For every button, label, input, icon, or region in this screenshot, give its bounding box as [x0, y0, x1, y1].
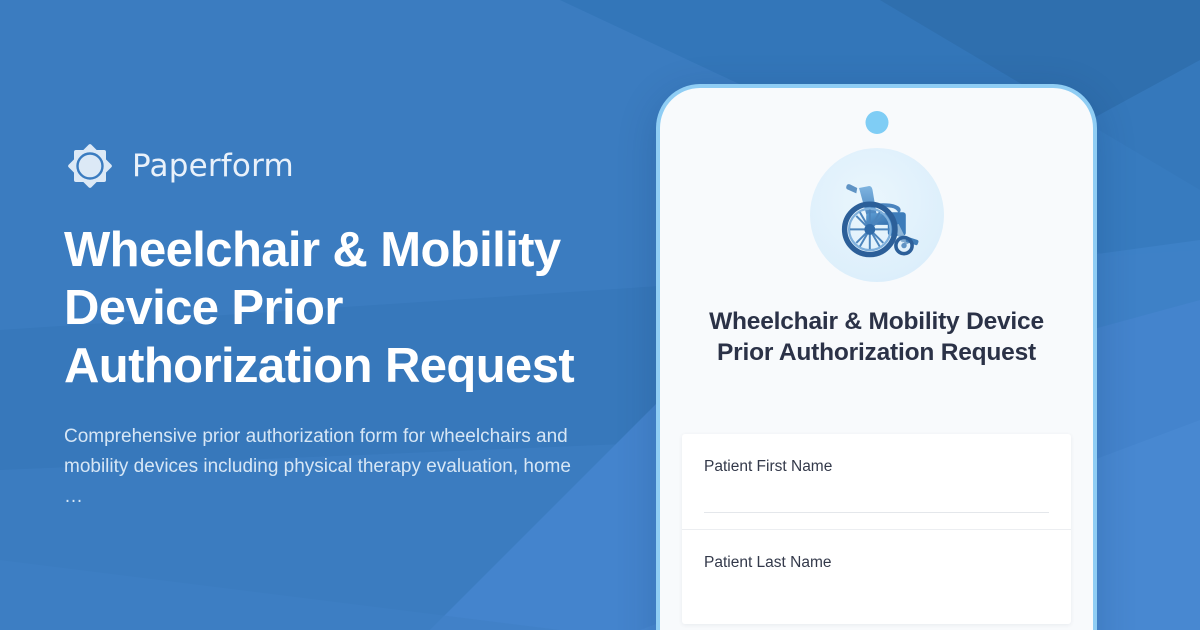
page-description: Comprehensive prior authorization form f…: [64, 422, 584, 512]
paperform-star-logo-icon: [64, 140, 116, 192]
wheelchair-icon: [810, 148, 944, 282]
camera-dot-icon: [865, 111, 888, 134]
field-label: Patient First Name: [704, 458, 1049, 476]
form-field-patient-last-name[interactable]: Patient Last Name: [682, 530, 1071, 624]
form-card: Patient First Name Patient Last Name: [682, 434, 1071, 624]
brand-lockup: Paperform: [64, 140, 624, 192]
text-input[interactable]: [704, 512, 1049, 513]
page-title: Wheelchair & Mobility Device Prior Autho…: [64, 222, 609, 395]
brand-name: Paperform: [132, 148, 294, 184]
form-field-patient-first-name[interactable]: Patient First Name: [682, 434, 1071, 530]
field-label: Patient Last Name: [704, 554, 1049, 572]
hero-content: Paperform Wheelchair & Mobility Device P…: [64, 140, 624, 512]
phone-mockup: Wheelchair & Mobility Device Prior Autho…: [656, 84, 1097, 630]
share-card-canvas: Paperform Wheelchair & Mobility Device P…: [0, 0, 1200, 630]
form-title: Wheelchair & Mobility Device Prior Autho…: [688, 306, 1065, 369]
